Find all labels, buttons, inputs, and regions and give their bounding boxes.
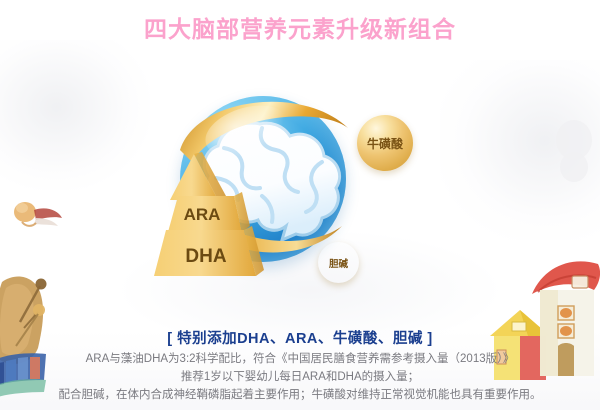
body-copy: ARA与藻油DHA为3:2科学配比，符合《中国居民膳食营养需参考摄入量（2013…	[0, 350, 600, 404]
pyramid-label-ara: ARA	[184, 205, 221, 224]
body-line-3: 配合胆碱，在体内合成神经鞘磷脂起着主要作用；牛磺酸对维持正常视觉机能也具有重要作…	[0, 386, 600, 404]
subtitle: [ 特别添加DHA、ARA、牛磺酸、胆碱 ]	[0, 327, 600, 348]
pyramid-label-dha: DHA	[185, 246, 226, 267]
background-wash-top-left	[0, 40, 150, 190]
body-line-1: ARA与藻油DHA为3:2科学配比，符合《中国居民膳食营养需参考摄入量（2013…	[0, 350, 600, 368]
ghost-doodle-icon	[560, 152, 588, 182]
body-line-2: 推荐1岁以下婴幼儿每日ARA和DHA的摄入量；	[0, 368, 600, 386]
watercolor-bird-toy-icon	[8, 196, 68, 236]
promo-banner: 四大脑部营养元素升级新组合	[0, 0, 600, 410]
nutrient-ball-taurine: 牛磺酸	[357, 115, 413, 171]
nutrient-ball-taurine-label: 牛磺酸	[367, 135, 403, 152]
nutrient-ball-choline-label: 胆碱	[329, 256, 348, 270]
page-title: 四大脑部营养元素升级新组合	[0, 10, 600, 44]
nutrient-ball-choline: 胆碱	[318, 242, 359, 283]
